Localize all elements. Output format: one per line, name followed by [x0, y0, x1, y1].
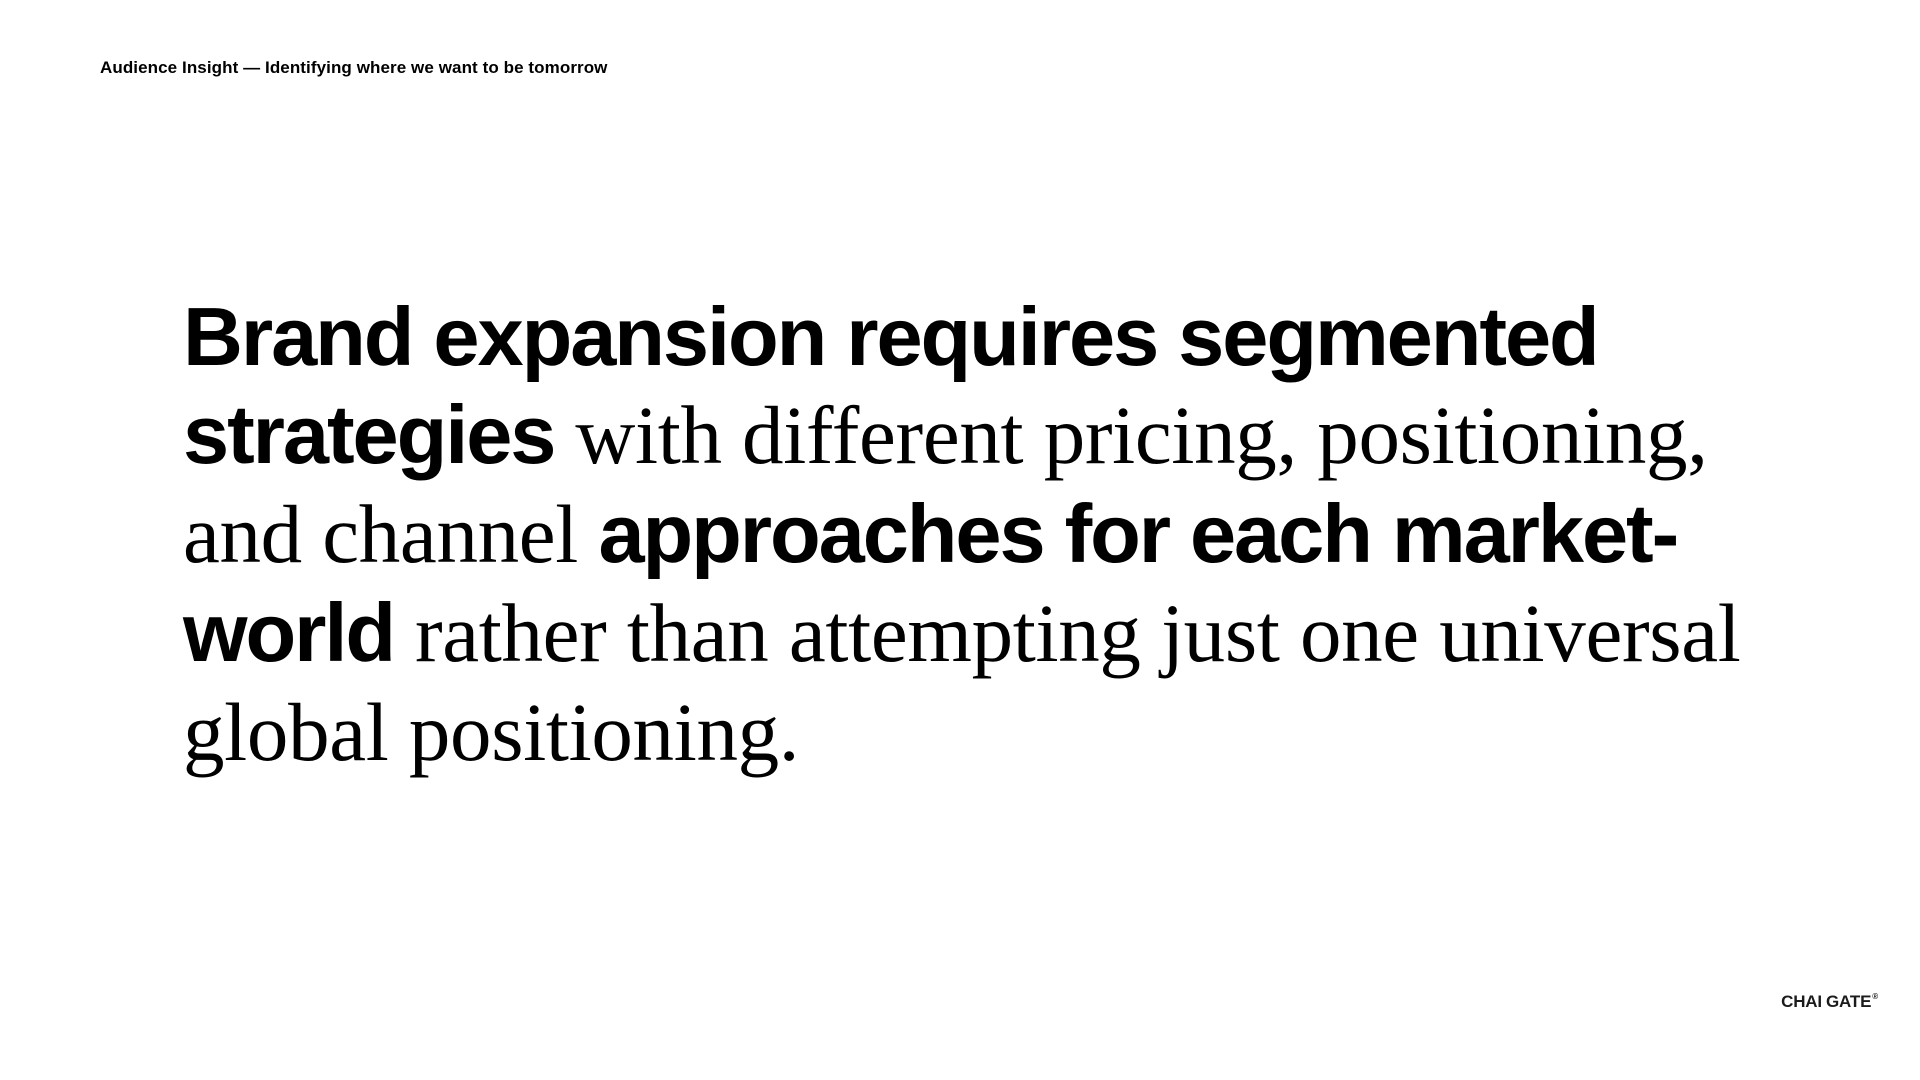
brand-wordmark: CHAI GATE ® — [1781, 992, 1878, 1012]
statement-text: Brand expansion requires segmented strat… — [183, 288, 1783, 782]
registered-trademark-icon: ® — [1872, 993, 1878, 1001]
slide-kicker: Audience Insight — Identifying where we … — [100, 58, 608, 78]
statement-segment-4: rather than attempting just one universa… — [183, 587, 1740, 778]
wordmark-gate: GATE — [1826, 992, 1871, 1012]
slide-canvas: Audience Insight — Identifying where we … — [0, 0, 1920, 1080]
wordmark-chai: CHAI — [1781, 992, 1822, 1012]
